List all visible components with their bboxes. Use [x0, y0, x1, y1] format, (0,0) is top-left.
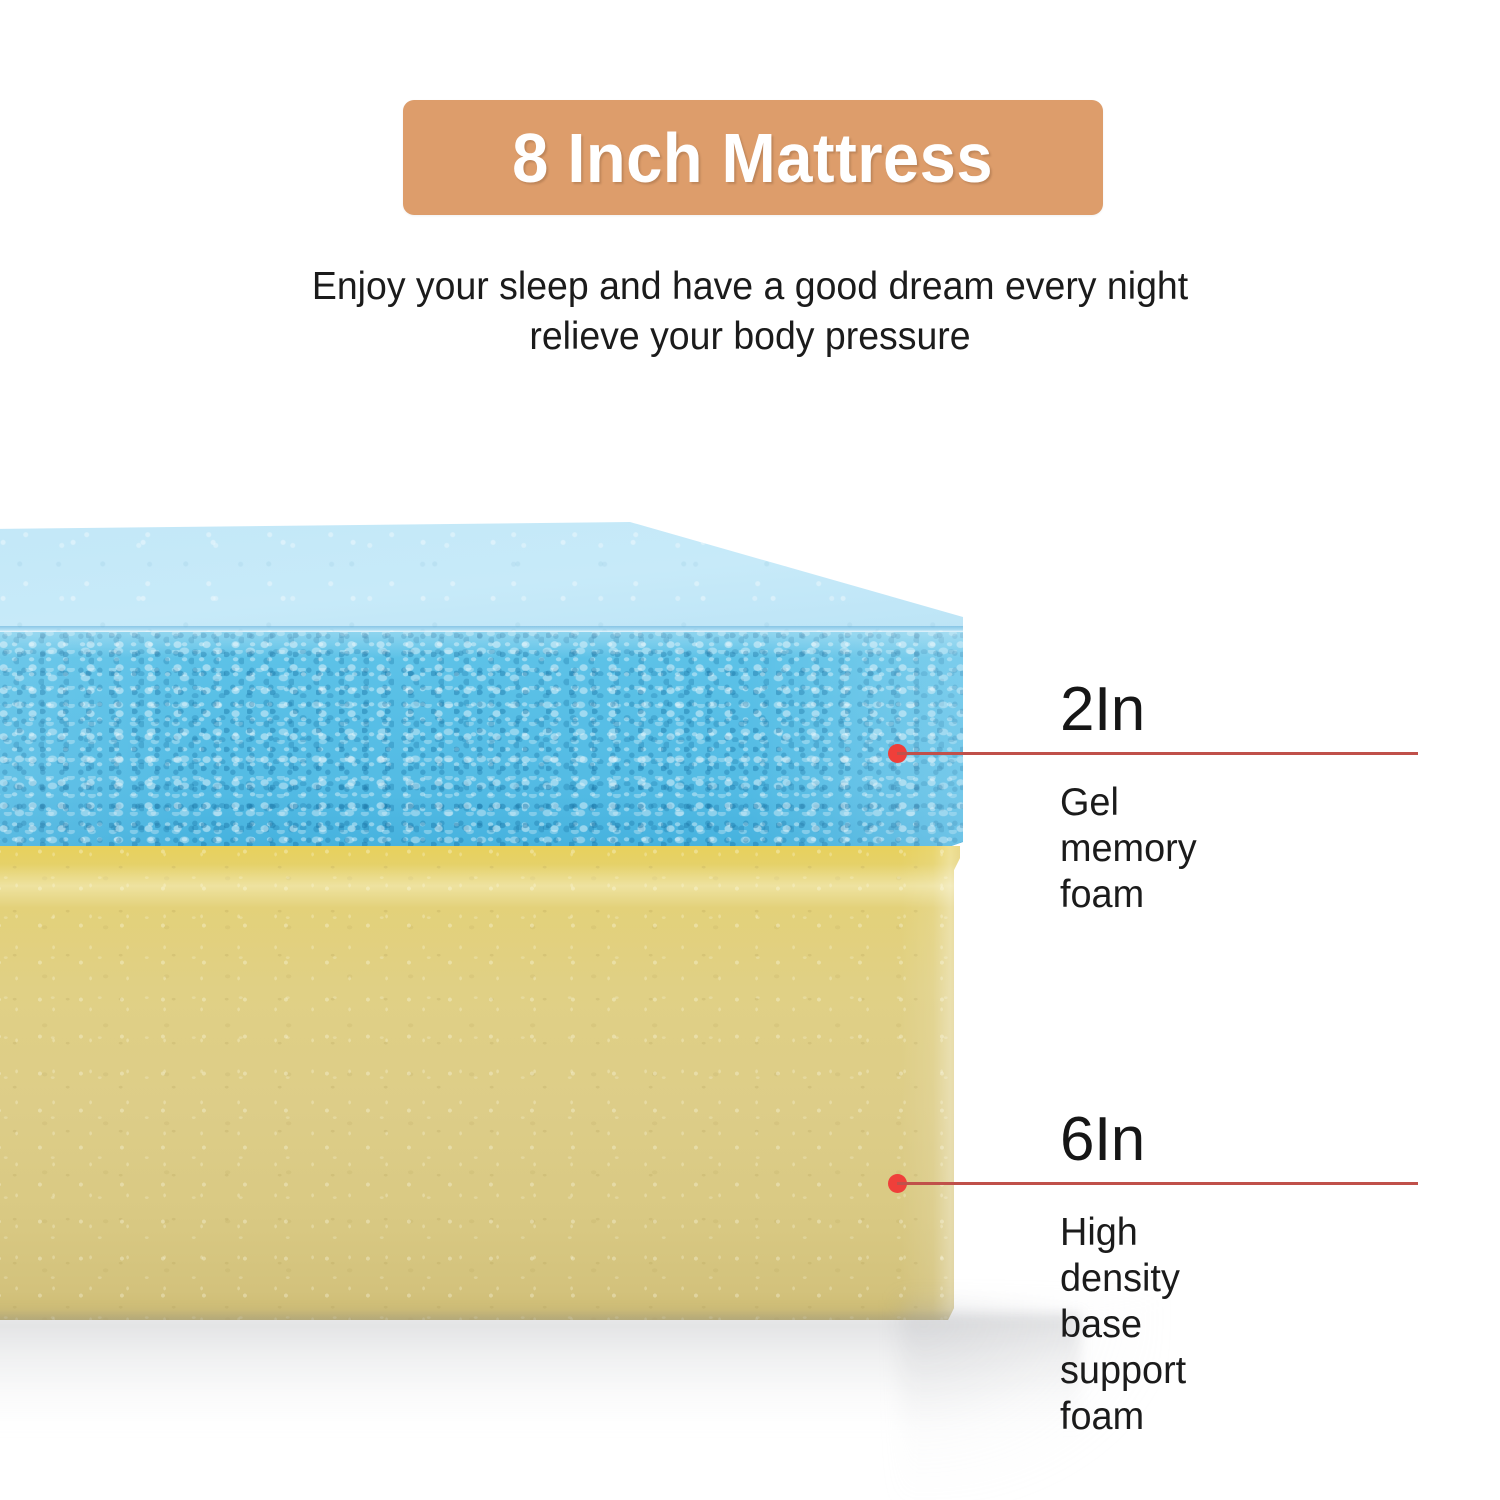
subtitle-line-2: relieve your body pressure: [30, 312, 1470, 362]
gel-foam-front-face: [0, 632, 963, 848]
leader-line-bottom: [897, 1182, 1418, 1185]
mattress-cutaway-illustration: [0, 520, 969, 1320]
base-foam-right-edge-light: [900, 846, 960, 1320]
gel-foam-top-sheen: [0, 632, 963, 658]
leader-line-top: [897, 752, 1418, 755]
base-foam-texture: [0, 846, 960, 1320]
foam-top-grain: [0, 520, 963, 632]
callout-thickness-bottom: 6In: [1060, 1109, 1145, 1171]
subtitle: Enjoy your sleep and have a good dream e…: [30, 262, 1470, 362]
page-title: 8 Inch Mattress: [513, 123, 994, 193]
callout-thickness-top: 2In: [1060, 679, 1145, 741]
foam-top-surface: [0, 520, 963, 632]
infographic-canvas: 8 Inch Mattress Enjoy your sleep and hav…: [0, 0, 1500, 1500]
base-foam-highlight: [0, 864, 960, 908]
title-badge: 8 Inch Mattress: [403, 100, 1103, 215]
gel-foam-shading: [0, 632, 963, 848]
base-support-foam-layer: [0, 846, 960, 1320]
callout-description-top: Gel memory foam: [1060, 780, 1197, 918]
callout-description-bottom: High density base support foam: [1060, 1210, 1186, 1440]
subtitle-line-1: Enjoy your sleep and have a good dream e…: [30, 262, 1470, 312]
